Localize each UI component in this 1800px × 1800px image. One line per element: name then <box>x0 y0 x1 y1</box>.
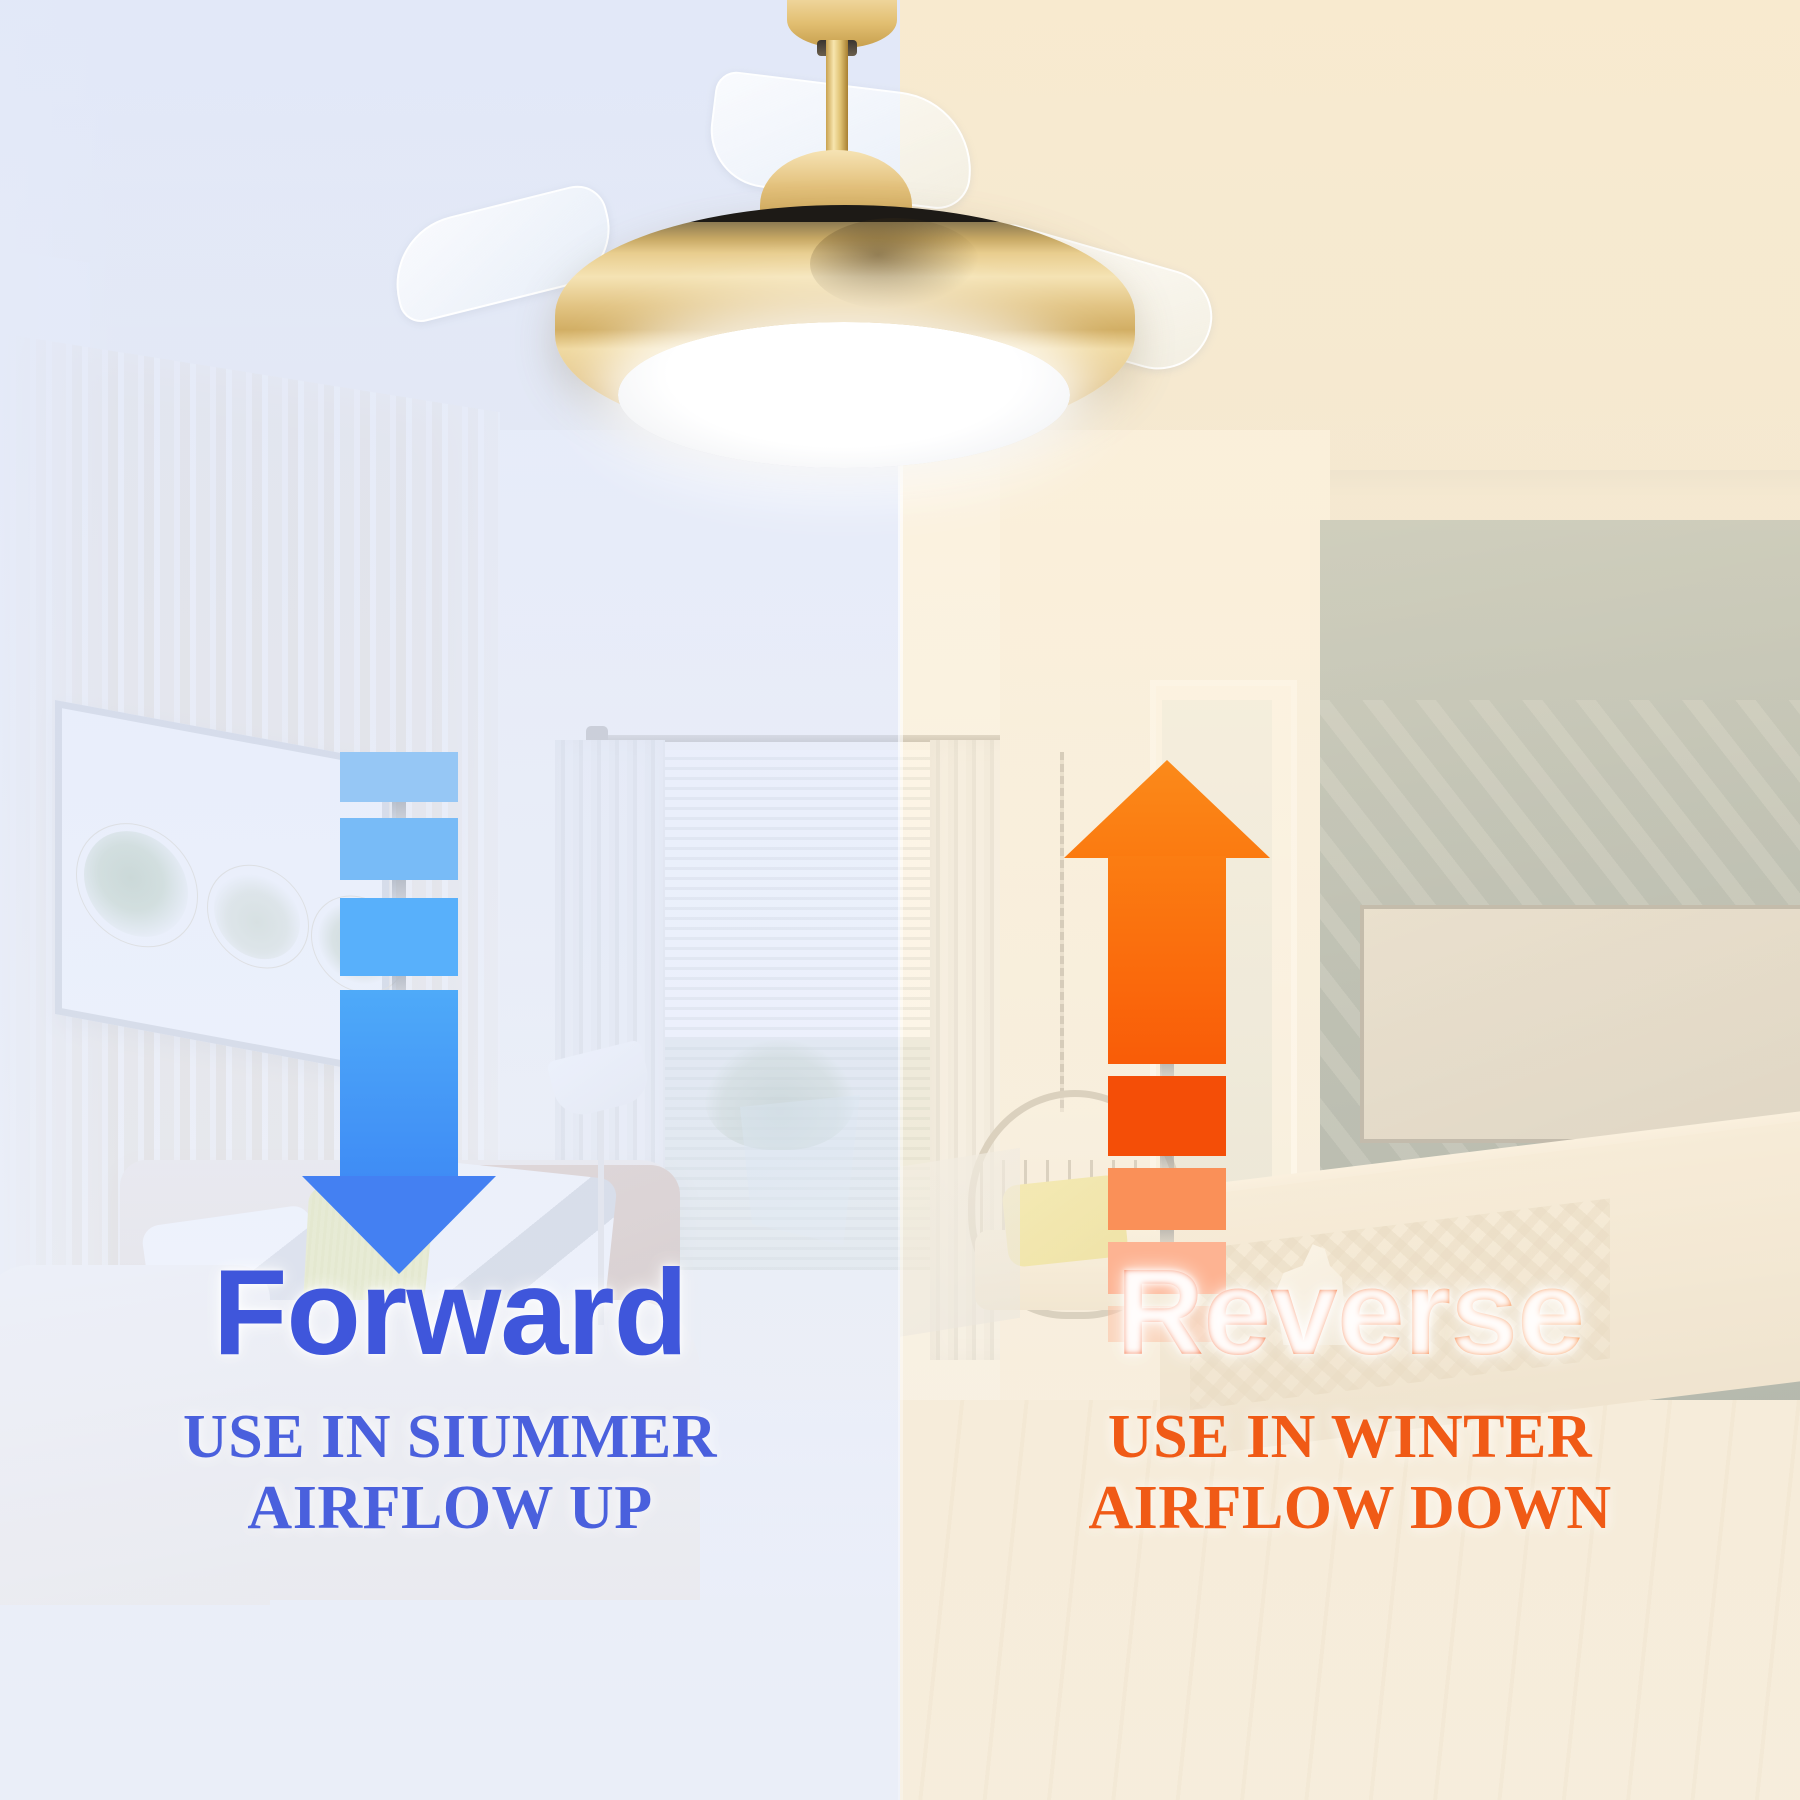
leaf-ring-1 <box>76 813 198 958</box>
reverse-title: Reverse <box>900 1250 1800 1374</box>
orange-arrow-segment-2 <box>1108 1168 1226 1230</box>
fan-downrod <box>826 40 848 160</box>
reverse-caption-block: Reverse USE IN WINTER AIRFLOW DOWN <box>900 1250 1800 1544</box>
botanical-art-frame <box>55 700 389 1076</box>
fan-housing-highlight <box>810 218 980 310</box>
split-seam-divider <box>898 430 903 1800</box>
fan-led-light-panel <box>618 322 1070 468</box>
orange-arrow-segment-1 <box>1108 1076 1226 1156</box>
forward-subtitle-line-1: USE IN SIUMMER <box>0 1402 900 1473</box>
glass-decor-panel <box>740 1095 860 1245</box>
ceiling-fan <box>380 0 1220 470</box>
blue-arrow-segment-1 <box>340 752 458 802</box>
blue-arrow-link-3 <box>392 976 406 990</box>
reverse-subtitle-line-1: USE IN WINTER <box>900 1402 1800 1473</box>
reverse-subtitle-line-2: AIRFLOW DOWN <box>900 1473 1800 1544</box>
infographic-canvas: Forward USE IN SIUMMER AIRFLOW UP Revers… <box>0 0 1800 1800</box>
blue-arrow-shaft <box>340 990 458 1178</box>
orange-arrow-shaft <box>1108 856 1226 1064</box>
blue-arrow-link-1 <box>392 802 406 818</box>
forward-subtitle-line-2: AIRFLOW UP <box>0 1473 900 1544</box>
wall-mounted-tv <box>1360 905 1800 1143</box>
forward-caption-block: Forward USE IN SIUMMER AIRFLOW UP <box>0 1250 900 1544</box>
blue-down-arrow-icon <box>340 752 458 1282</box>
leaf-ring-2 <box>207 856 309 977</box>
blue-arrow-link-2 <box>392 880 406 898</box>
blue-arrow-segment-2 <box>340 818 458 880</box>
blue-arrow-segment-3 <box>340 898 458 976</box>
forward-title: Forward <box>0 1250 900 1374</box>
egg-chair-chain <box>1060 752 1064 1112</box>
